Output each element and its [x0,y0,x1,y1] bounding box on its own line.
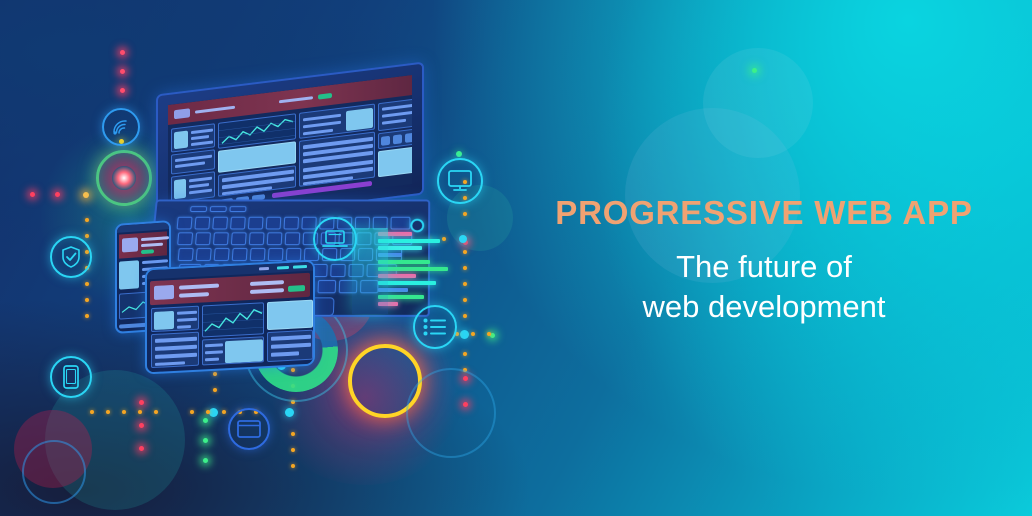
panel-thumb [174,131,188,150]
panel-line [382,111,412,118]
keyboard-key [194,217,210,230]
glow-dot-red-left-b [55,192,60,197]
list-icon-badge[interactable] [413,305,457,349]
panel-line [155,345,197,351]
glow-dot-green-left-c [203,458,208,463]
panel-line [205,358,219,362]
panel-line [191,128,213,134]
tablet-panel-right-bottom [267,330,313,362]
glow-dot-red-2 [120,69,125,74]
panel-line [191,140,213,146]
laptop-icon-badge[interactable] [313,217,357,261]
tablet-panel-left [151,306,199,333]
tablet-line-chart-svg [203,303,264,337]
panel-thumb [225,339,263,363]
panel-line [155,361,185,366]
mobile-icon [63,365,79,389]
panel-line [189,183,209,188]
monitor-icon-badge[interactable] [437,158,483,204]
keyboard-key [268,248,284,261]
phone-content-card [119,260,139,289]
tablet-panel-left-bottom [151,332,199,369]
keyboard-key [249,232,265,245]
dashboard-panel-right-mid [378,129,412,150]
data-stream-bars [378,232,464,308]
glow-dot-green-left-b [203,438,208,443]
tablet-panel-chart [202,302,264,337]
panel-line [205,343,223,347]
panel-line [271,335,311,341]
red-core-glow [112,166,136,190]
panel-line [271,351,299,356]
glow-dot-orange-left [83,192,89,198]
dashboard-panel-right-top [378,99,412,132]
keyboard-key [284,217,299,230]
dashboard-panel-sidebar-top [171,123,215,152]
list-icon [423,318,447,336]
tablet-device [145,260,315,375]
panel-line [303,129,333,136]
panel-line [189,189,212,195]
node-dot-cyan-c [460,330,469,339]
laptop-power-indicator [410,219,424,233]
keyboard-key [177,232,193,245]
keyboard-key [301,217,316,230]
panel-thumb [174,179,186,199]
tablet-panel-mid-bottom [202,336,264,365]
dashboard-panel-right-bottom [378,147,412,178]
panel-tile [393,134,402,144]
wifi-icon-badge[interactable] [102,108,140,146]
laptop-screen [168,75,412,214]
tablet-panel-right-top [267,300,313,330]
glow-dot-red-1 [120,50,125,55]
panel-thumb [346,108,373,131]
panel-line [177,318,197,322]
panel-line [303,121,341,129]
page-subtitle-line-2: web development [519,287,1009,327]
wifi-icon [111,118,131,136]
keyboard-key [266,217,282,230]
panel-tile [381,136,390,146]
node-dot-green-top [456,151,462,157]
browser-window-icon-badge[interactable] [228,408,270,450]
keyboard-key [330,264,346,277]
keyboard-key [213,232,229,245]
dashboard-nav-line-1 [279,96,313,103]
panel-line [205,350,223,354]
copy-block: PROGRESSIVE WEB APP The future of web de… [519,196,1009,326]
data-stream-panel [352,228,388,314]
keyboard-fnkey [190,206,207,212]
panel-line [271,343,311,349]
shield-check-icon [61,246,81,268]
keyboard-fnkey [210,206,227,212]
keyboard-key [230,217,246,230]
bg-blob-small-right [703,48,813,158]
page-subtitle: The future of web development [519,247,1009,326]
node-dot-cyan-b [285,408,294,417]
keyboard-key [286,248,302,261]
panel-line [155,353,197,359]
keyboard-key [267,232,283,245]
phone-app-header [119,231,167,258]
panel-line [175,161,205,168]
keyboard-key [178,248,194,261]
glow-dot-red-4 [139,400,144,405]
glow-dot-green-topright [752,68,757,73]
panel-line [382,104,412,111]
panel-line [177,311,197,315]
keyboard-key [177,217,193,230]
glow-dot-red-6 [139,446,144,451]
panel-tile [405,133,412,143]
keyboard-key [214,248,230,261]
panel-line [177,325,191,329]
glow-dot-green-left-a [203,418,208,423]
page-subtitle-line-1: The future of [519,247,1009,287]
ring-cyan-bottom-right [406,368,496,458]
glow-dot-red-left-a [30,192,35,197]
node-dot-cyan-a [209,408,218,417]
promo-banner: PROGRESSIVE WEB APP The future of web de… [0,0,1032,516]
keyboard-key [248,217,264,230]
glow-dot-red-5 [139,423,144,428]
keyboard-key [390,217,410,230]
dashboard-logo [174,108,190,119]
keyboard-key [250,248,266,261]
keyboard-fnkey [229,206,246,212]
keyboard-key [196,248,212,261]
panel-line [303,114,341,122]
keyboard-key [212,217,228,230]
page-title: PROGRESSIVE WEB APP [519,196,1009,229]
keyboard-key [285,232,301,245]
dashboard-panel-sidebar-mid [171,149,215,174]
keyboard-key [317,280,336,293]
dashboard-panel-rows [299,132,375,187]
panel-thumb [154,311,174,330]
browser-window-icon [237,420,261,438]
dashboard-panel-sidebar-bottom [171,171,215,202]
panel-line [191,135,209,140]
stream-bar [378,267,448,271]
monitor-icon [447,169,473,193]
panel-line [382,119,406,125]
ring-cyan-bottom-left [22,440,86,504]
keyboard-key [231,232,247,245]
laptop-icon [322,229,348,249]
dashboard-status-badge [318,92,332,99]
shield-check-icon-badge[interactable] [50,236,92,278]
mobile-icon-badge[interactable] [50,356,92,398]
panel-line [175,155,212,163]
panel-line [189,177,212,183]
keyboard-key [232,248,248,261]
dashboard-title-line [195,105,235,113]
glow-dot-red-3 [120,88,125,93]
panel-line [155,337,197,343]
keyboard-key [195,232,211,245]
